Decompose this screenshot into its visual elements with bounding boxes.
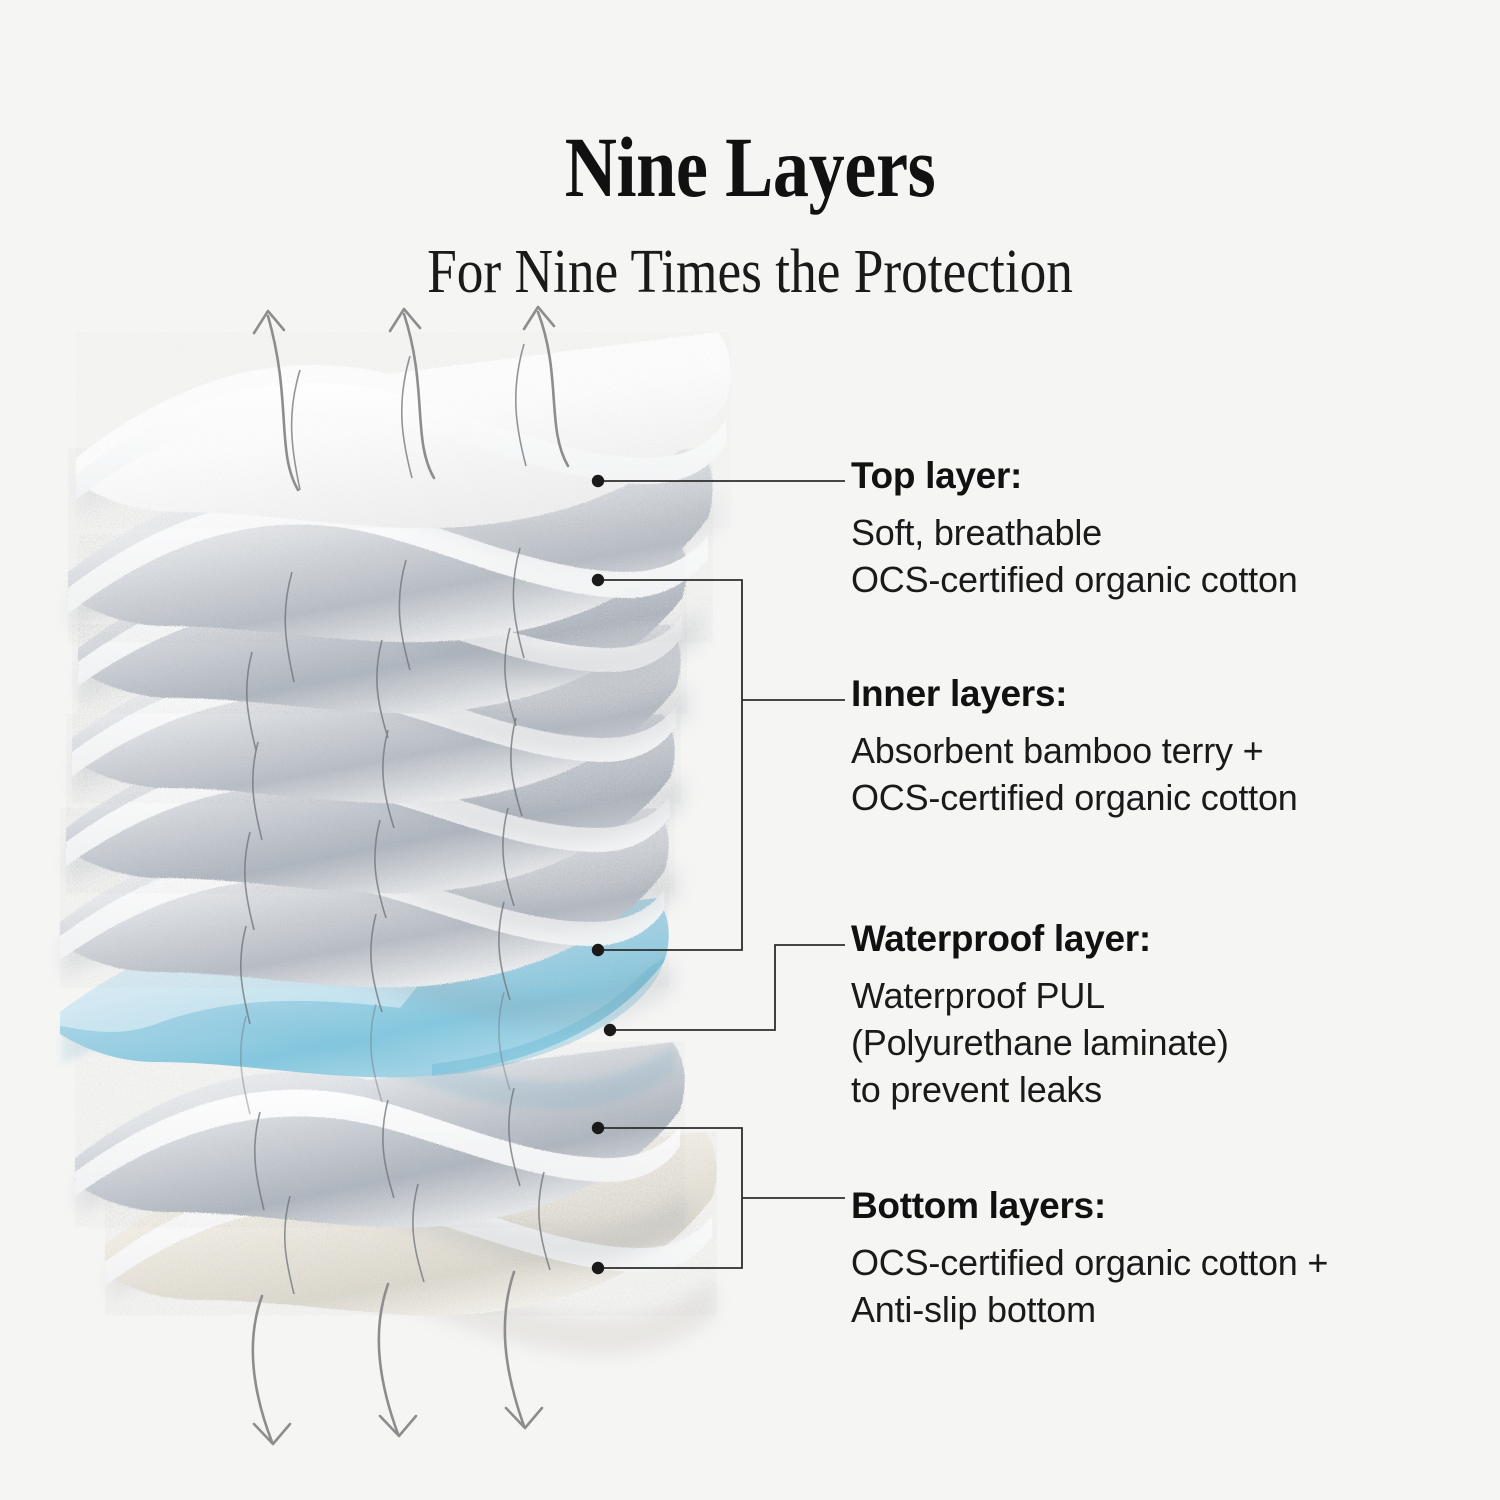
callout-heading-bottom: Bottom layers: [851, 1185, 1451, 1228]
leader-dot-waterproof [604, 1024, 616, 1036]
infographic-root: Nine Layers For Nine Times the Protectio… [0, 0, 1500, 1500]
callout-heading-inner: Inner layers: [851, 673, 1451, 716]
callout-body-waterproof-line-3: to prevent leaks [851, 1067, 1451, 1114]
callout-waterproof-layer: Waterproof layer: Waterproof PUL (Polyur… [851, 918, 1451, 1113]
callout-top-layer: Top layer: Soft, breathable OCS-certifie… [851, 455, 1451, 604]
callout-heading-waterproof: Waterproof layer: [851, 918, 1451, 961]
callout-body-waterproof: Waterproof PUL (Polyurethane laminate) t… [851, 973, 1451, 1113]
callout-body-bottom: OCS-certified organic cotton + Anti-slip… [851, 1240, 1451, 1334]
callout-bottom-layers: Bottom layers: OCS-certified organic cot… [851, 1185, 1451, 1334]
callout-body-bottom-line-2: Anti-slip bottom [851, 1287, 1451, 1334]
leader-dot-top [592, 475, 604, 487]
callout-body-inner-line-1: Absorbent bamboo terry + [851, 728, 1451, 775]
callout-body-inner-line-2: OCS-certified organic cotton [851, 775, 1451, 822]
callout-body-inner: Absorbent bamboo terry + OCS-certified o… [851, 728, 1451, 822]
callout-body-top-line-1: Soft, breathable [851, 510, 1451, 557]
callout-body-top-line-2: OCS-certified organic cotton [851, 557, 1451, 604]
leader-dot-bottom-bot [592, 1262, 604, 1274]
callout-inner-layers: Inner layers: Absorbent bamboo terry + O… [851, 673, 1451, 822]
callout-body-waterproof-line-1: Waterproof PUL [851, 973, 1451, 1020]
callout-body-top: Soft, breathable OCS-certified organic c… [851, 510, 1451, 604]
callout-heading-top: Top layer: [851, 455, 1451, 498]
callout-body-bottom-line-1: OCS-certified organic cotton + [851, 1240, 1451, 1287]
callout-body-waterproof-line-2: (Polyurethane laminate) [851, 1020, 1451, 1067]
leader-dot-bottom-top [592, 1122, 604, 1134]
leader-dot-inner-top [592, 574, 604, 586]
leader-dot-inner-bot [592, 944, 604, 956]
